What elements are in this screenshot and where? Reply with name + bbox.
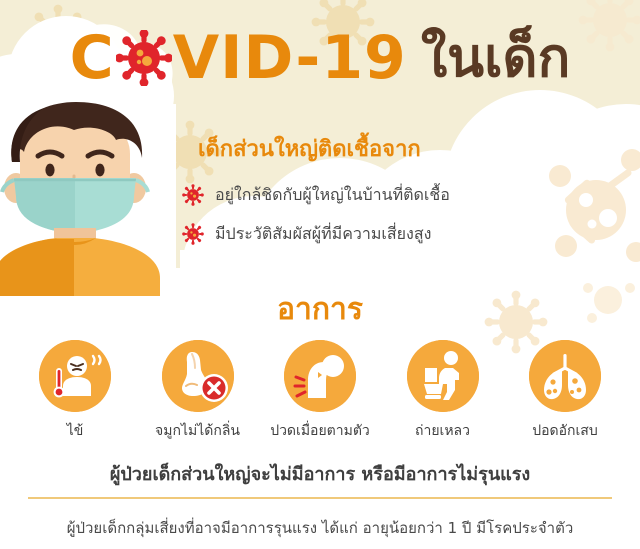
virus-bullet-icon — [182, 223, 204, 245]
title-letter-c: C — [70, 28, 115, 88]
virus-bullet-icon — [182, 184, 204, 206]
diarrhea-icon — [407, 340, 479, 412]
symptom-item-no-smell: จมูกไม่ได้กลิ่น — [139, 340, 257, 442]
virus-icon — [116, 30, 172, 86]
list-item: อยู่ใกล้ชิดกับผู้ใหญ่ในบ้านที่ติดเชื้อ — [182, 184, 622, 206]
title-letters-vid: VID- — [173, 28, 322, 88]
symptom-label: ถ่ายเหลว — [415, 420, 470, 442]
fever-icon — [39, 340, 111, 412]
bullet-text: อยู่ใกล้ชิดกับผู้ใหญ่ในบ้านที่ติดเชื้อ — [215, 185, 450, 204]
lungs-icon — [529, 340, 601, 412]
covid19-children-infographic: C — [0, 0, 640, 549]
list-item: มีประวัติสัมผัสผู้ที่มีความเสี่ยงสูง — [182, 223, 622, 245]
bullet-text: มีประวัติสัมผัสผู้ที่มีความเสี่ยงสูง — [215, 224, 431, 243]
footer-divider — [28, 497, 612, 499]
boy-wearing-mask-illustration — [0, 96, 170, 296]
title-number-19: 19 — [321, 28, 407, 88]
transmission-bullet-list: อยู่ใกล้ชิดกับผู้ใหญ่ในบ้านที่ติดเชื้อ — [182, 184, 622, 262]
page-title: C — [0, 22, 640, 94]
body-ache-icon — [284, 340, 356, 412]
symptom-item-body-ache: ปวดเมื่อยตามตัว — [261, 340, 379, 442]
symptom-item-diarrhea: ถ่ายเหลว — [384, 340, 502, 442]
symptom-item-pneumonia: ปอดอักเสบ — [506, 340, 624, 442]
no-smell-nose-icon — [162, 340, 234, 412]
symptom-label: ไข้ — [67, 420, 84, 442]
transmission-heading: เด็กส่วนใหญ่ติดเชื้อจาก — [198, 131, 421, 166]
symptom-item-fever: ไข้ — [16, 340, 134, 442]
footer-note-text: ผู้ป่วยเด็กกลุ่มเสี่ยงที่อาจมีอาการรุนแร… — [0, 516, 640, 540]
footer-main-text: ผู้ป่วยเด็กส่วนใหญ่จะไม่มีอาการ หรือมีอา… — [0, 459, 640, 488]
title-thai-text: ในเด็ก — [421, 31, 571, 85]
symptom-label: จมูกไม่ได้กลิ่น — [155, 420, 240, 442]
symptom-label: ปอดอักเสบ — [532, 420, 598, 442]
symptoms-icon-row: ไข้ — [16, 340, 624, 442]
symptom-label: ปวดเมื่อยตามตัว — [270, 420, 370, 442]
